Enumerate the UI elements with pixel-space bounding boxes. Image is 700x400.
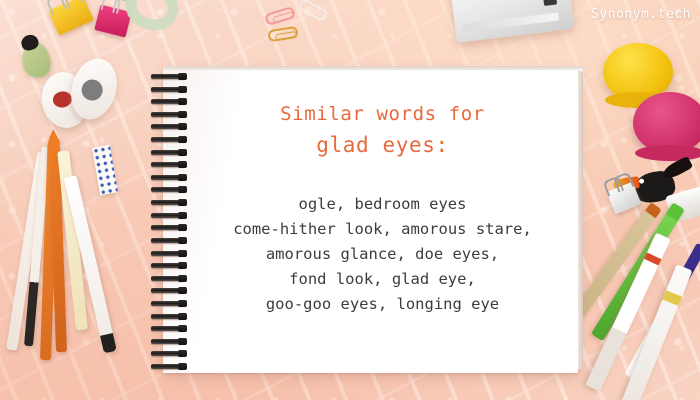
page-title: Similar words for (203, 103, 562, 125)
spiral-ring (151, 99, 184, 104)
spiral-ring (151, 288, 184, 293)
camera-button (543, 0, 557, 6)
spiral-ring (151, 238, 184, 243)
spiral-ring (151, 263, 184, 268)
notebook-page: Similar words for glad eyes: ogle, bedro… (163, 70, 578, 373)
spiral-ring (151, 225, 184, 230)
word-line: fond look, glad eye, (203, 267, 562, 292)
spiral-ring (151, 351, 184, 356)
spiral-ring (151, 150, 184, 155)
notebook-content: Similar words for glad eyes: ogle, bedro… (203, 70, 562, 373)
pink-macaron (633, 92, 700, 154)
spiral-ring (151, 213, 184, 218)
spiral-ring (151, 364, 184, 369)
word-line: amorous glance, doe eyes, (203, 242, 562, 267)
word-line: goo-goo eyes, longing eye (203, 292, 562, 317)
synonym-word-list: ogle, bedroom eyes come-hither look, amo… (203, 192, 562, 317)
spiral-ring (151, 87, 184, 92)
spiral-ring (151, 187, 184, 192)
site-logo[interactable]: Synonym.tech (591, 7, 691, 22)
camera-lens (481, 0, 550, 1)
spiral-ring (151, 112, 184, 117)
spiral-ring (151, 301, 184, 306)
headword-title: glad eyes: (203, 133, 562, 157)
spiral-binding (151, 74, 191, 370)
spiral-ring (151, 124, 184, 129)
red-dot (52, 90, 73, 109)
spiral-ring (151, 175, 184, 180)
spiral-ring (151, 200, 184, 205)
spiral-ring (151, 326, 184, 331)
gray-dot (79, 77, 105, 103)
word-line: ogle, bedroom eyes (203, 192, 562, 217)
spiral-ring (151, 74, 184, 79)
spiral-ring (151, 251, 184, 256)
spiral-ring (151, 162, 184, 167)
spiral-ring (151, 314, 184, 319)
spiral-ring (151, 137, 184, 142)
spiral-ring (151, 339, 184, 344)
toucan-eye (639, 178, 645, 184)
word-line: come-hither look, amorous stare, (203, 217, 562, 242)
camera-body-strip (463, 12, 559, 32)
pencil-tip-2 (48, 129, 58, 139)
spiral-ring (151, 276, 184, 281)
